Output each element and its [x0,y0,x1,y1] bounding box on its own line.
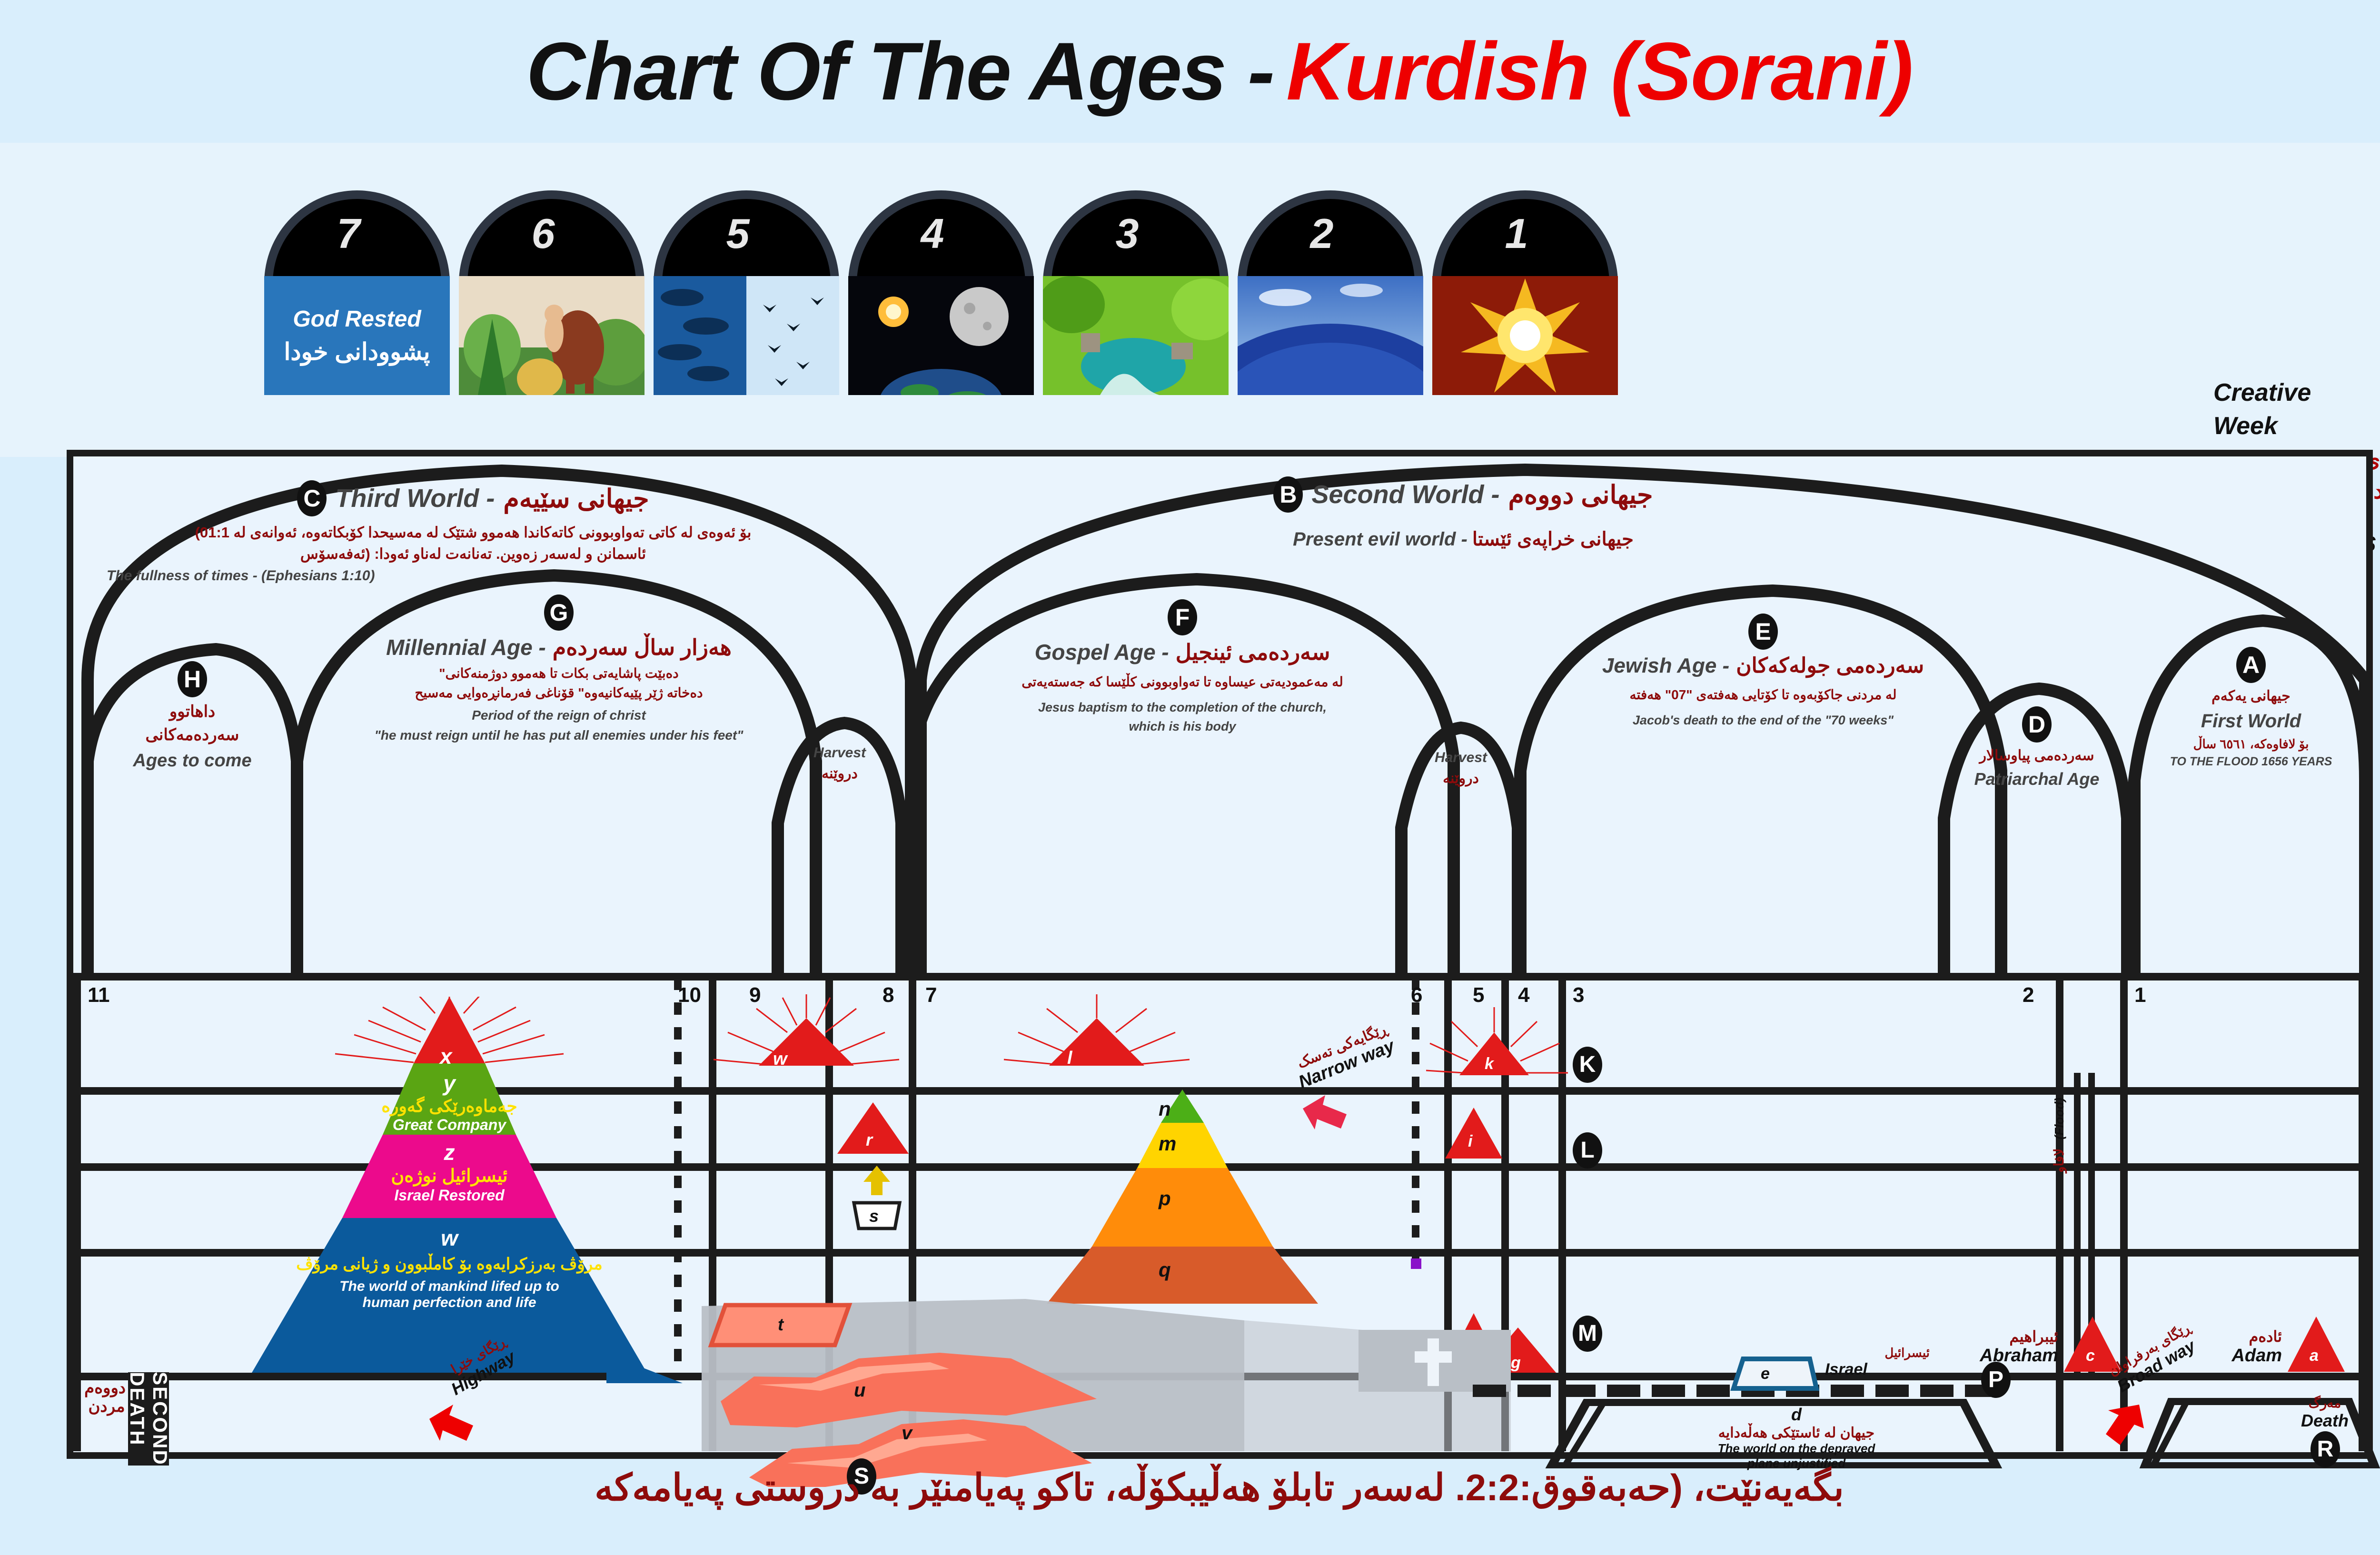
trapezoid-letter-t: t [778,1315,783,1335]
depraved-ku: جیهان لە ئاستێکی هەڵەدایە [1716,1425,1877,1441]
day-number: 7 [264,209,433,258]
page-title-bar: Chart Of The Ages - Kurdish (Sorani) [0,0,2380,143]
harvest-2-label: Harvest دروێنە [1401,747,1520,789]
harvest-1-label: Harvest دروێنە [778,742,902,784]
column-number: 2 [2023,983,2034,1007]
flood-label-ku: لافاو [2052,1149,2066,1173]
age-f-body-ku: لە مەعمودیەتی عیساوە تا تەواوبوونی کڵێسا… [930,673,1435,692]
age-e-header: E Jewish Age - سەردەمی جولەکەکان لە مردن… [1535,614,1992,730]
center-pyramid-letter-p: p [1159,1187,1171,1210]
world-b-sub-en: Present evil world - [1293,525,1468,554]
column-number: 1 [2134,983,2146,1007]
world-b-badge: B [1273,476,1303,513]
triangle-a [2287,1311,2349,1375]
pyramid-segment-w: w مرۆڤ بەرزکرایەوە بۆ کامڵبوون و ژیانی م… [235,1225,664,1311]
age-f-body-en-2: which is his body [930,717,1435,736]
pyramid-w-en-1: The world of mankind lifed up to [235,1278,664,1295]
page-title-main: Chart Of The Ages - [526,24,1274,119]
god-rested-panel: God Rested پشوودانی خودا [264,276,450,395]
land-and-plants-image [1043,276,1229,395]
age-g-body-en-2: "he must reign until he has put all enem… [311,725,806,745]
death-label-ku: مەرگ [2282,1395,2368,1411]
age-a-sub-ku: بۆ لافاوەکە، ١٦٥٦ ساڵ [2139,735,2363,753]
day-number: 1 [1432,209,1601,258]
world-c-body-en: The fullness of times - (Ephesians 1:10) [107,565,844,586]
flood-label-en: (Flood) [2052,1098,2066,1139]
day-number: 6 [459,209,627,258]
creative-week-section: 7 6 5 4 3 2 1 God Rested پشوود [0,143,2380,457]
pyramid-segment-y: y جەماوەرێکی گەورە Great Company [316,1070,583,1134]
triangle-l-sunburst [1002,992,1192,1087]
israel-label: ئیسرائیل Israel [1825,1346,1930,1379]
israel-label-en: Israel [1825,1360,1930,1379]
triangle-i [1444,1100,1506,1162]
depraved-plane-label: d جیهان لە ئاستێکی هەڵەدایە The world on… [1716,1405,1877,1471]
marker-R[interactable]: R [2311,1431,2340,1467]
column-number: 10 [678,983,701,1007]
pyramid-z-en: Israel Restored [283,1187,616,1204]
age-f-body-en-1: Jesus baptism to the completion of the c… [930,698,1435,717]
world-b-title-ku: جیهانی دووەم [1508,480,1653,510]
age-h-badge: H [178,661,207,697]
chart-of-the-ages-body: C Third World - جیهانی سێیەم بۆ ئەوەی لە… [67,450,2373,1459]
age-d-title-en: Patriarchal Age [1944,766,2130,792]
god-rested-label-ku: پشوودانی خودا [284,338,430,366]
sun-moon-earth-image [848,276,1034,395]
gray-block-with-cross [1359,1330,1511,1392]
adam-label-ku: ئادەم [2187,1327,2282,1346]
age-e-body-ku: لە مردنی جاکۆبەوە تا کۆتایی هەفتەی "70" … [1535,685,1992,705]
triangle-letter-w: w [773,1049,787,1070]
marker-M[interactable]: M [1573,1316,1602,1352]
age-f-title-ku: سەردەمی ئینجیل [1176,639,1330,665]
marker-P[interactable]: P [1981,1362,2011,1398]
age-a-badge: A [2236,647,2266,683]
world-c-body-ku-1: بۆ ئەوەی لە کاتی تەواوبوونی کاتەکاندا هە… [102,522,844,544]
trapezoid-letter-e: e [1761,1365,1770,1383]
world-b-title-en: Second World - [1311,480,1499,509]
sky-and-water-image [1238,276,1423,395]
abraham-label: ئیبراهیم Abraham [1963,1327,2058,1366]
world-c-title-en: Third World - [335,484,495,513]
israel-label-ku: ئیسرائیل [1825,1346,1930,1360]
age-a-title-ku: جیهانی یەکەم [2139,686,2363,707]
triangle-letter-g: g [1511,1354,1521,1372]
age-g-badge: G [544,594,574,631]
world-b-sub-ku: جیهانی خراپەی ئێستا [1472,525,1634,553]
creative-week-label-en-1: Creative [2213,376,2380,409]
death-label: مەرگ Death [2282,1395,2368,1431]
highway-arrow-icon [426,1404,478,1449]
marker-L[interactable]: L [1573,1132,1602,1169]
harvest-2-ku: دروێنە [1401,768,1520,789]
triangle-letter-c: c [2086,1347,2095,1365]
depraved-en-1: The world on the depraved [1716,1441,1877,1456]
world-c-body-ku-2: ئاسمانن و لەسەر زەوین. تەنانەت لەناو ئەو… [102,544,844,565]
man-and-animals-image [459,276,645,395]
god-rested-label-en: God Rested [293,306,421,332]
fish-and-birds-image [654,276,839,395]
world-c-badge: C [297,480,327,516]
bottom-band: SECOND DEATH دووەم مردن ڕێگای خێرا Highw… [73,1375,2366,1466]
age-d-badge: D [2022,706,2052,743]
age-h-title-en: Ages to come [92,747,292,774]
pyramid-letter-w: w [235,1225,664,1251]
age-d-header: D سەردەمی پیاوسالار Patriarchal Age [1944,706,2130,792]
age-e-body-en: Jacob's death to the end of the "70 week… [1535,711,1992,730]
age-f-header: F Gospel Age - سەردەمی ئینجیل لە مەعمودی… [930,599,1435,736]
age-e-badge: E [1748,614,1778,650]
triangle-letter-a: a [2310,1347,2319,1365]
world-c-title-ku: جیهانی سێیەم [503,484,649,514]
triangle-letter-i: i [1468,1132,1472,1151]
triangle-w-sunburst [711,992,902,1087]
center-pyramid-letter-n: n [1159,1098,1171,1120]
world-b-header: B Second World - جیهانی دووەم Present ev… [1035,476,1892,554]
second-death-bar: SECOND DEATH [128,1372,169,1466]
triangle-k-sunburst [1425,1001,1582,1087]
pyramid-segment-z: z ئیسرائیل نوژەن Israel Restored [283,1139,616,1204]
second-death-label-ku: دووەم مردن [88,1379,126,1416]
column-number: 11 [88,983,110,1007]
age-h-title-ku-1: داهاتوو [92,700,292,723]
harvest-1-ku: دروێنە [778,763,902,784]
triangle-letter-l: l [1067,1048,1072,1069]
triangle-letter-k: k [1485,1055,1494,1073]
world-c-header: C Third World - جیهانی سێیەم بۆ ئەوەی لە… [102,480,844,586]
trapezoid-e [1725,1355,1820,1393]
age-f-badge: F [1168,599,1197,635]
age-e-title-ku: سەردەمی جولەکەکان [1736,654,1924,678]
creative-week-image-row: God Rested پشوودانی خودا [264,276,2201,395]
pyramid-w-en-2: human perfection and life [235,1295,664,1311]
age-e-title-en: Jewish Age - [1602,654,1729,678]
pyramid-y-ku: جەماوەرێکی گەورە [316,1096,583,1116]
death-label-en: Death [2282,1411,2368,1431]
column-number: 7 [925,983,937,1007]
trapezoid-letter-d: d [1716,1405,1877,1425]
harvest-1-en: Harvest [778,742,902,763]
creative-week-label-en-2: Week [2213,409,2380,443]
age-h-header: H داهاتوو سەردەمەکانی Ages to come [92,661,292,774]
pyramid-y-en: Great Company [316,1116,583,1134]
age-h-title-ku-2: سەردەمەکانی [92,723,292,747]
age-g-body-ku-1: دەبێت پاشایەتی بکات تا هەموو دوژمنەکانی" [311,664,806,683]
pyramid-letter-x: x [440,1043,452,1069]
age-a-sub-en: TO THE FLOOD 1656 YEARS [2139,753,2363,771]
flood-label: لافاو (Flood) [2051,1098,2067,1173]
age-g-header: G Millennial Age - هەزار ساڵ سەردەم دەبێ… [311,594,806,745]
age-a-header: A جیهانی یەکەم First World بۆ لافاوەکە، … [2139,647,2363,771]
day-number: 2 [1238,209,1406,258]
marker-K[interactable]: K [1573,1047,1602,1083]
light-burst-image [1432,276,1618,395]
age-f-title-en: Gospel Age - [1035,639,1169,665]
center-pyramid-letter-m: m [1159,1132,1176,1155]
day-number: 3 [1043,209,1211,258]
age-g-body-ku-2: دەخاتە ژێر پێیەکانیەوە" قۆناغی فەرمانڕەو… [311,683,806,703]
pyramid-letter-z: z [283,1139,616,1165]
triangle-letter-r: r [866,1130,873,1150]
abraham-label-en: Abraham [1963,1346,2058,1366]
age-g-title-ku: هەزار ساڵ سەردەم [553,634,732,660]
age-d-title-ku: سەردەمی پیاوسالار [1944,745,2130,766]
day-number: 5 [654,209,822,258]
harvest-2-en: Harvest [1401,747,1520,768]
bottom-caption: بگەیەنێت، (حەبەقوق:2:2. لەسەر تابلۆ هەڵی… [0,1466,2380,1509]
age-a-title-en: First World [2139,707,2363,735]
age-g-title-en: Millennial Age - [386,634,546,660]
triangle-r [835,1098,911,1159]
pyramid-letter-y: y [316,1070,583,1096]
narrow-way-arrow-icon [1299,1094,1351,1137]
day-number: 4 [848,209,1017,258]
column-number: 6 [1411,983,1422,1007]
age-g-body-en-1: Period of the reign of christ [311,705,806,725]
page-title-language: Kurdish (Sorani) [1286,24,1912,119]
abraham-label-ku: ئیبراهیم [1963,1327,2058,1346]
pyramid-w-ku: مرۆڤ بەرزکرایەوە بۆ کامڵبوون و ژیانی مرۆ… [235,1255,664,1274]
pyramid-z-ku: ئیسرائیل نوژەن [283,1165,616,1187]
